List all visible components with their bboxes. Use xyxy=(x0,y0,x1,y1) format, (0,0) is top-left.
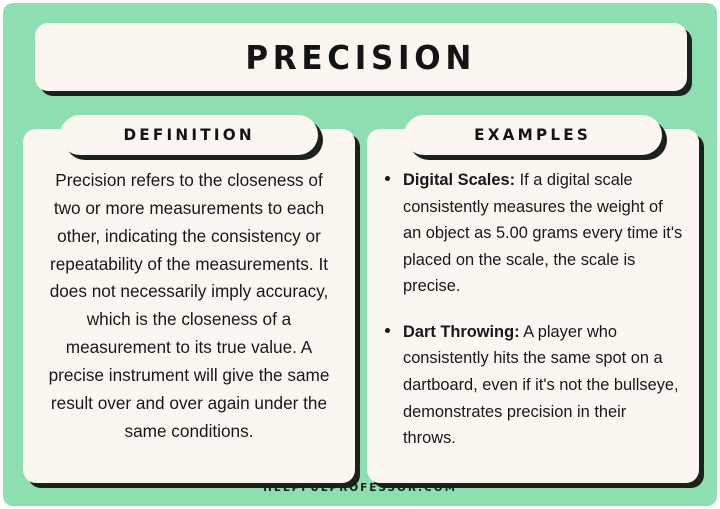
list-item: Digital Scales: If a digital scale consi… xyxy=(383,167,683,300)
examples-heading-label: EXAMPLES xyxy=(475,127,592,143)
title-card: PRECISION xyxy=(35,23,687,91)
example-text: If a digital scale consistently measures… xyxy=(403,171,682,295)
examples-card: Digital Scales: If a digital scale consi… xyxy=(367,129,699,483)
page-title: PRECISION xyxy=(246,41,477,74)
definition-heading-pill: DEFINITION xyxy=(60,115,318,155)
example-term: Dart Throwing: xyxy=(403,323,520,341)
definition-heading-label: DEFINITION xyxy=(123,127,254,143)
footer-attribution: HELPFULPROFESSOR.COM xyxy=(263,481,457,494)
footer: HELPFULPROFESSOR.COM xyxy=(3,478,717,496)
example-term: Digital Scales: xyxy=(403,171,515,189)
examples-column: Digital Scales: If a digital scale consi… xyxy=(367,115,699,483)
example-text: A player who consistently hits the same … xyxy=(403,323,679,447)
bullet-icon xyxy=(385,328,390,333)
content-columns: Precision refers to the closeness of two… xyxy=(23,115,699,483)
examples-heading-pill: EXAMPLES xyxy=(404,115,662,155)
bullet-icon xyxy=(385,176,390,181)
definition-card: Precision refers to the closeness of two… xyxy=(23,129,355,483)
list-item: Dart Throwing: A player who consistently… xyxy=(383,319,683,452)
definition-column: Precision refers to the closeness of two… xyxy=(23,115,355,483)
examples-list: Digital Scales: If a digital scale consi… xyxy=(383,167,683,452)
definition-body: Precision refers to the closeness of two… xyxy=(39,167,339,446)
infographic-poster: PRECISION Precision refers to the closen… xyxy=(3,3,717,506)
